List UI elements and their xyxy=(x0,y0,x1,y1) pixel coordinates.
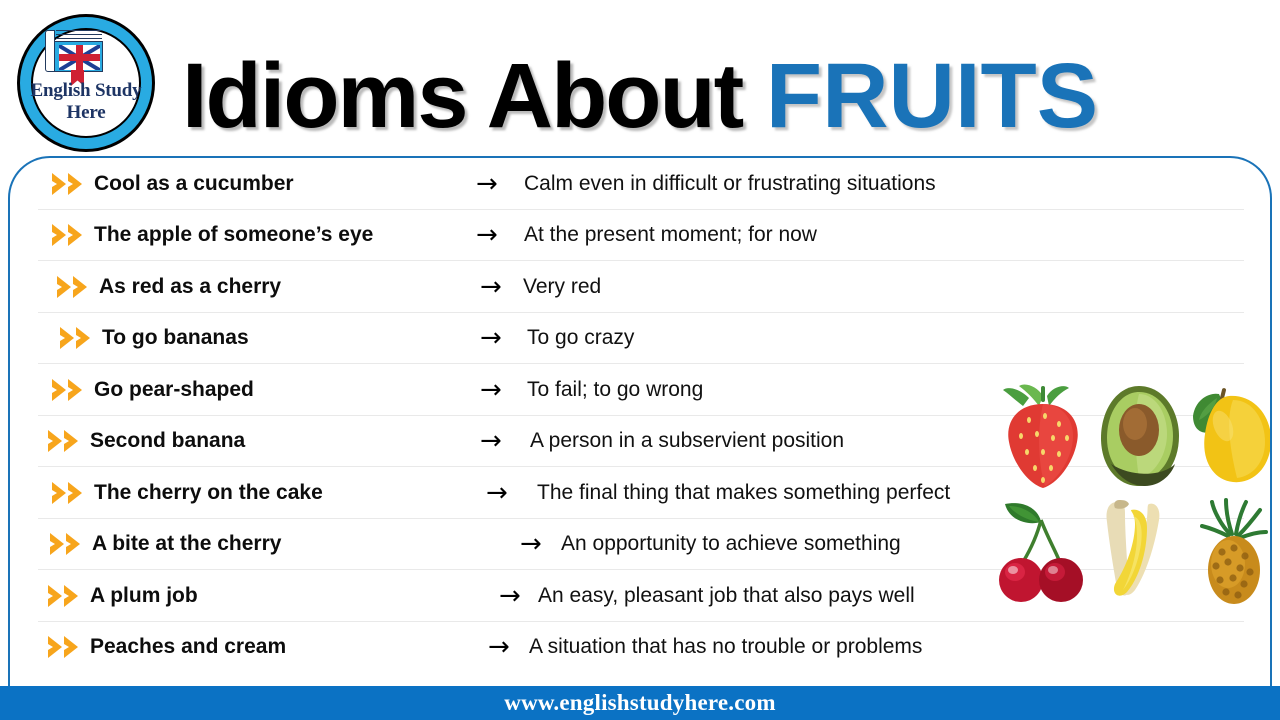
arrow-icon: → xyxy=(480,428,502,454)
arrow-icon: → xyxy=(488,634,510,660)
idiom-meaning: A situation that has no trouble or probl… xyxy=(529,635,922,659)
idiom-phrase: Go pear-shaped xyxy=(94,378,254,402)
arrow-icon: → xyxy=(480,325,502,351)
book-page-lines xyxy=(56,30,102,41)
idiom-row: Cool as a cucumber→Calm even in difficul… xyxy=(10,158,1272,210)
double-chevron-icon xyxy=(46,634,88,660)
banana-image xyxy=(1091,496,1187,612)
idiom-phrase: Cool as a cucumber xyxy=(94,172,294,196)
page-title-blue: FRUITS xyxy=(766,45,1098,147)
arrow-icon: → xyxy=(476,222,498,248)
page-title: Idioms About FRUITS xyxy=(182,44,1098,148)
idiom-row: As red as a cherry→Very red xyxy=(10,261,1272,313)
idiom-phrase: To go bananas xyxy=(102,326,249,350)
page-title-black: Idioms About xyxy=(182,45,742,147)
idiom-phrase: Second banana xyxy=(90,429,245,453)
idiom-meaning: A person in a subservient position xyxy=(530,429,844,453)
cherries-image xyxy=(995,496,1091,612)
strawberry-image xyxy=(995,380,1091,496)
idiom-phrase: As red as a cherry xyxy=(99,275,281,299)
idiom-phrase: The cherry on the cake xyxy=(94,481,323,505)
fruit-illustrations xyxy=(995,380,1263,612)
idiom-meaning: To go crazy xyxy=(527,326,634,350)
double-chevron-icon xyxy=(46,428,88,454)
double-chevron-icon xyxy=(48,531,90,557)
double-chevron-icon xyxy=(55,274,97,300)
book-cover xyxy=(54,41,103,72)
logo-text-line1: English Study xyxy=(23,80,149,102)
idiom-meaning: The final thing that makes something per… xyxy=(537,481,950,505)
arrow-icon: → xyxy=(499,583,521,609)
arrow-icon: → xyxy=(520,531,542,557)
footer-bar: www.englishstudyhere.com xyxy=(0,686,1280,720)
idiom-phrase: A plum job xyxy=(90,584,198,608)
double-chevron-icon xyxy=(58,325,100,351)
logo-text: English Study Here xyxy=(23,80,149,124)
content-panel: Cool as a cucumber→Calm even in difficul… xyxy=(8,156,1272,690)
idiom-meaning: To fail; to go wrong xyxy=(527,378,703,402)
arrow-icon: → xyxy=(480,377,502,403)
arrow-icon: → xyxy=(480,274,502,300)
site-logo: English Study Here xyxy=(17,14,169,156)
website-url[interactable]: www.englishstudyhere.com xyxy=(504,690,775,716)
double-chevron-icon xyxy=(50,480,92,506)
double-chevron-icon xyxy=(46,583,88,609)
pineapple-image xyxy=(1187,496,1272,612)
book-uk-flag-icon xyxy=(45,28,103,74)
arrow-icon: → xyxy=(486,480,508,506)
header: English Study Here Idioms About FRUITS xyxy=(0,0,1280,160)
idiom-meaning: An easy, pleasant job that also pays wel… xyxy=(538,584,915,608)
idiom-meaning: Very red xyxy=(523,275,601,299)
logo-text-line2: Here xyxy=(23,102,149,124)
double-chevron-icon xyxy=(50,171,92,197)
idiom-row: The apple of someone’s eye→At the presen… xyxy=(10,210,1272,262)
lemon-image xyxy=(1187,380,1272,496)
avocado-image xyxy=(1091,380,1187,496)
idiom-meaning: At the present moment; for now xyxy=(524,223,817,247)
idiom-row: Peaches and cream→A situation that has n… xyxy=(10,622,1272,674)
idiom-phrase: A bite at the cherry xyxy=(92,532,281,556)
double-chevron-icon xyxy=(50,222,92,248)
idiom-phrase: Peaches and cream xyxy=(90,635,286,659)
idiom-meaning: Calm even in difficult or frustrating si… xyxy=(524,172,936,196)
idiom-meaning: An opportunity to achieve something xyxy=(561,532,901,556)
idiom-phrase: The apple of someone’s eye xyxy=(94,223,373,247)
double-chevron-icon xyxy=(50,377,92,403)
idiom-row: To go bananas→To go crazy xyxy=(10,313,1272,365)
arrow-icon: → xyxy=(476,171,498,197)
uk-flag-icon xyxy=(59,45,100,70)
poster: English Study Here Idioms About FRUITS C… xyxy=(0,0,1280,720)
